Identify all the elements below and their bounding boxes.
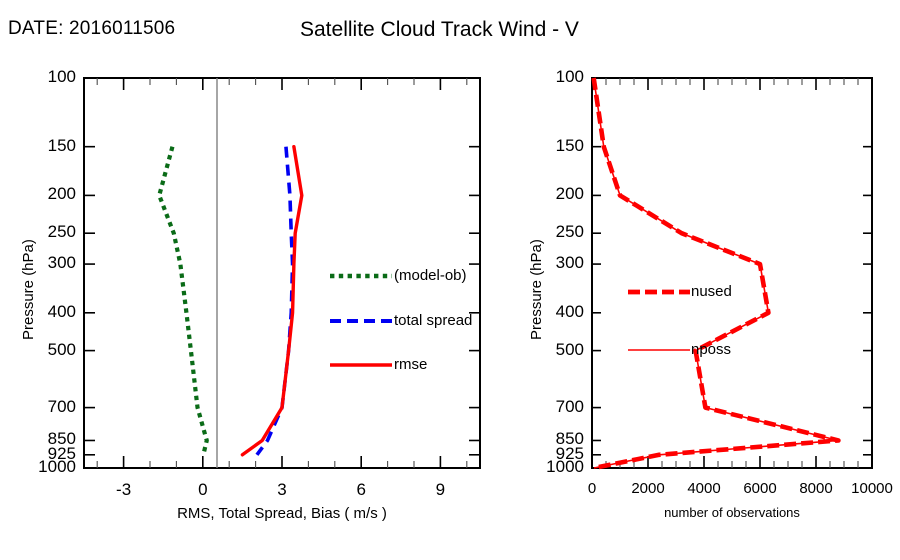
right-x-tick-label-10000: 10000	[832, 480, 900, 497]
left-x-tick-label-9: 9	[400, 480, 480, 500]
legend-label-nused: nused	[691, 283, 732, 300]
left-y-tick-label-200: 200	[0, 184, 76, 204]
legend-label-nposs: nposs	[691, 341, 731, 358]
left-x-tick-label-6: 6	[321, 480, 401, 500]
series-nused-line	[594, 78, 839, 468]
left-x-tick-label-3: 3	[242, 480, 322, 500]
legend-label-model-ob: (model-ob)	[394, 267, 467, 284]
axis-ticks	[84, 78, 872, 468]
legend-label-total-spread: total spread	[394, 312, 472, 329]
series-total-spread-line	[257, 147, 293, 455]
right-y-tick-label-700: 700	[504, 397, 584, 417]
left-y-tick-label-250: 250	[0, 222, 76, 242]
left-x-tick-label--3: -3	[84, 480, 164, 500]
right-y-tick-label-200: 200	[504, 184, 584, 204]
right-y-tick-label-400: 400	[504, 302, 584, 322]
right-y-tick-label-500: 500	[504, 340, 584, 360]
right-plot-frame	[592, 78, 872, 468]
left-y-tick-label-150: 150	[0, 136, 76, 156]
left-y-tick-label-700: 700	[0, 397, 76, 417]
left-y-tick-label-1000: 1000	[0, 457, 76, 477]
right-y-tick-label-100: 100	[504, 67, 584, 87]
right-y-tick-label-150: 150	[504, 136, 584, 156]
left-y-tick-label-400: 400	[0, 302, 76, 322]
right-y-tick-label-300: 300	[504, 253, 584, 273]
left-y-tick-label-300: 300	[0, 253, 76, 273]
right-y-tick-label-250: 250	[504, 222, 584, 242]
left-y-tick-label-500: 500	[0, 340, 76, 360]
left-x-tick-label-0: 0	[163, 480, 243, 500]
right-y-tick-label-1000: 1000	[504, 457, 584, 477]
series-model-ob-line	[159, 147, 207, 455]
chart-page: DATE: 2016011506 Satellite Cloud Track W…	[0, 0, 900, 560]
left-y-tick-label-100: 100	[0, 67, 76, 87]
legend-label-rmse: rmse	[394, 356, 427, 373]
series-rmse-line	[242, 147, 301, 455]
